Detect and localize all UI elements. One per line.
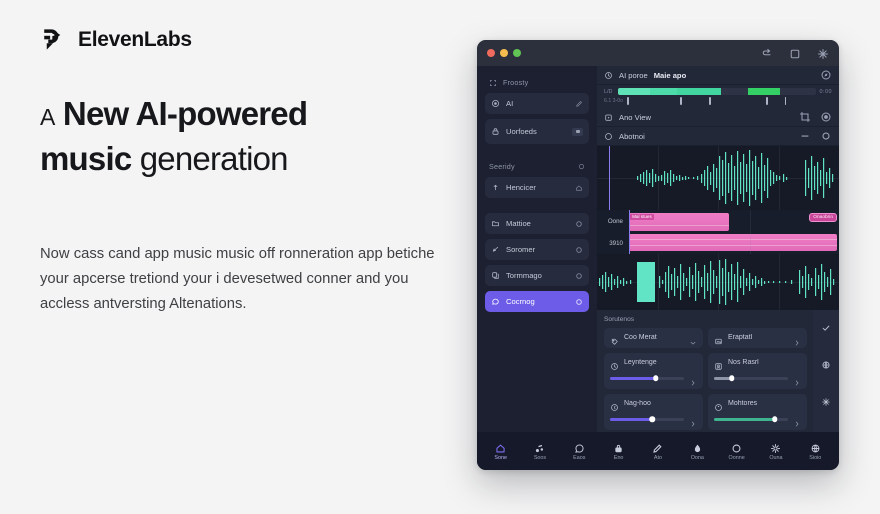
sidebar-section-label: Seeridy xyxy=(489,162,515,171)
minus-icon[interactable] xyxy=(799,130,811,142)
lock-icon xyxy=(491,127,500,136)
sidebar-item-hencicer[interactable]: Hencicer xyxy=(485,177,589,198)
progress-left-label: L/D xyxy=(604,89,614,95)
card-label: Coo Merat xyxy=(624,334,684,341)
headline-light-2: generation xyxy=(140,140,288,177)
timeline-tick xyxy=(680,97,682,105)
card-header: Mohtores xyxy=(714,399,801,408)
brand-lockup: ElevenLabs xyxy=(40,26,450,53)
card-slider-row xyxy=(714,374,801,382)
chevron-right-icon[interactable] xyxy=(689,374,697,382)
playhead xyxy=(609,146,610,210)
timeline-tick xyxy=(785,97,787,105)
sidebar-item-ai[interactable]: AI xyxy=(485,93,589,114)
close-button[interactable] xyxy=(487,49,495,57)
card-slider-row xyxy=(610,374,697,382)
control-card-leyntenge[interactable]: Leyntenge xyxy=(604,353,703,389)
record-icon[interactable] xyxy=(820,111,832,123)
waveform-bottom-svg xyxy=(597,254,839,310)
square-icon[interactable] xyxy=(789,47,801,59)
control-card-mohtores[interactable]: Mohtores xyxy=(708,394,807,430)
marketing-column: ElevenLabs A New AI-powered music genera… xyxy=(40,26,450,317)
sidebar-item-uorfoeds[interactable]: Uorfoeds xyxy=(485,119,589,144)
copy-icon xyxy=(491,271,500,280)
chat-icon xyxy=(491,297,500,306)
sidebar-item-label: Tormmago xyxy=(506,271,569,280)
sidebar-item-label: AI xyxy=(506,99,569,108)
tab-eno[interactable]: Eno xyxy=(601,441,637,461)
card-slider-row xyxy=(714,415,801,423)
sun-icon xyxy=(714,399,723,408)
globe-icon[interactable] xyxy=(821,357,831,367)
control-card-coo-merat[interactable]: Coo Merat xyxy=(604,328,703,348)
app-window: Froosty AI xyxy=(477,40,839,470)
timeline-time-label: 6.1 3-0o xyxy=(604,98,623,104)
slider-track[interactable] xyxy=(610,418,684,421)
card-header: Nag-hoo xyxy=(610,399,697,408)
maximize-button[interactable] xyxy=(513,49,521,57)
timeline-tick xyxy=(627,97,629,105)
app-body: Froosty AI xyxy=(477,66,839,432)
headline-bold-2: music xyxy=(40,140,131,177)
card-header: Coo Merat xyxy=(610,333,697,342)
control-card-eraptatl[interactable]: Eraptatl xyxy=(708,328,807,348)
progress-segment xyxy=(721,88,749,95)
control-card-nag-hoo[interactable]: Nag-hoo xyxy=(604,394,703,430)
sidebar-item-label: Soromer xyxy=(506,245,569,254)
sidebar-section-seeridy: Seeridy xyxy=(485,159,589,177)
playhead xyxy=(629,210,630,254)
circle-icon xyxy=(575,220,583,228)
globe-icon xyxy=(810,441,821,452)
sidebar-item-tormmago[interactable]: Tormmago xyxy=(485,265,589,286)
compass-icon[interactable] xyxy=(820,69,832,81)
main-panel: AI poroe Maie apo L/D xyxy=(597,66,839,432)
card-header: Nos Rasrl xyxy=(714,358,801,367)
progress-segment xyxy=(650,88,678,95)
body-copy: Now cass cand app music music off ronner… xyxy=(40,242,440,317)
progress-right-label: 0:00 xyxy=(820,89,833,95)
drop-icon xyxy=(692,441,703,452)
slider-knob xyxy=(729,375,735,381)
tab-ouna[interactable]: Ouna xyxy=(758,441,794,461)
main-title-lead: AI poroe xyxy=(619,71,648,80)
card-icon[interactable] xyxy=(572,128,583,136)
card-header: Eraptatl xyxy=(714,333,801,342)
card-label: Nos Rasrl xyxy=(728,359,801,366)
header-actions-2 xyxy=(799,111,832,123)
circle-icon xyxy=(731,441,742,452)
elevenlabs-logo-icon xyxy=(40,26,67,53)
main-header-row-3: Abotnoi xyxy=(597,127,839,146)
clip-gutter: Oone 3910 xyxy=(597,210,627,254)
controls-grid: Coo Merat xyxy=(604,328,807,430)
slider-track[interactable] xyxy=(714,418,788,421)
tab-label: Ato xyxy=(654,455,662,461)
home-icon xyxy=(495,441,506,452)
control-card-nos-rasrl[interactable]: Nos Rasrl xyxy=(708,353,807,389)
clip-gutter-label: Oone xyxy=(608,218,623,225)
sidebar-item-label: Mattioe xyxy=(506,219,569,228)
brand-name: ElevenLabs xyxy=(78,28,192,52)
sidebar-spacer xyxy=(485,149,589,159)
tab-label: Oona xyxy=(691,455,704,461)
tag-icon xyxy=(610,333,619,342)
progress-segment xyxy=(677,88,720,95)
slider-track[interactable] xyxy=(610,377,684,380)
controls-panel: Sorutenos Coo Merat xyxy=(597,310,839,432)
slider-knob xyxy=(649,416,655,422)
clock-icon xyxy=(604,71,613,80)
grid-line xyxy=(750,210,751,254)
card-label: Mohtores xyxy=(728,400,801,407)
tab-eaos[interactable]: Eaos xyxy=(561,441,597,461)
sidebar-item-label: Cocrnog xyxy=(506,297,569,306)
sidebar-spacer-2 xyxy=(485,203,589,213)
sidebar-section-froosty: Froosty xyxy=(485,75,589,93)
sparkle-icon[interactable] xyxy=(817,47,829,59)
circle-icon xyxy=(575,272,583,280)
main-title-bold: Maie apo xyxy=(654,71,687,80)
gear-icon xyxy=(770,441,781,452)
clip-badge: Onaobrin xyxy=(809,213,837,222)
tab-oonne[interactable]: Oonne xyxy=(719,441,755,461)
sparkle-icon[interactable] xyxy=(821,394,831,404)
controls-main: Sorutenos Coo Merat xyxy=(597,310,813,432)
tab-oona[interactable]: Oona xyxy=(679,441,715,461)
sidebar: Froosty AI xyxy=(477,66,597,432)
titlebar-actions xyxy=(761,47,829,59)
progress-line: L/D 0:00 xyxy=(604,88,832,95)
main-header-row-2: Ano View xyxy=(597,108,839,127)
tab-label: Soos xyxy=(534,455,546,461)
timeline-tick xyxy=(766,97,768,105)
check-icon[interactable] xyxy=(821,320,831,330)
controls-section-label: Sorutenos xyxy=(604,316,807,323)
timeline-tick-area[interactable] xyxy=(627,97,832,105)
tab-sioio[interactable]: Sioio xyxy=(797,441,833,461)
circle-icon xyxy=(575,298,583,306)
progress-segment xyxy=(618,88,650,95)
slider-knob xyxy=(653,375,659,381)
mic-icon xyxy=(652,441,663,452)
slider-track[interactable] xyxy=(714,377,788,380)
clip-gutter-label: 3910 xyxy=(609,240,623,247)
tab-label: Sone xyxy=(494,455,507,461)
circle-icon xyxy=(578,163,585,170)
sidebar-item-soromer[interactable]: Soromer xyxy=(485,239,589,260)
crop-icon[interactable] xyxy=(799,111,811,123)
chevron-right-icon[interactable] xyxy=(793,374,801,382)
page-title: A New AI-powered music generation xyxy=(40,93,450,180)
tab-ato[interactable]: Ato xyxy=(640,441,676,461)
card-label: Leyntenge xyxy=(624,359,697,366)
waveform-top[interactable] xyxy=(597,146,839,210)
bottom-tab-bar: Sone Soos Eaos Eno xyxy=(477,432,839,470)
tab-label: Ouna xyxy=(769,455,782,461)
reset-arrow-icon[interactable] xyxy=(761,47,773,59)
progress-strip: L/D 0:00 6.1 3-0o xyxy=(597,85,839,108)
headline-lead: A xyxy=(40,104,55,130)
circle-icon xyxy=(575,246,583,254)
progress-track[interactable] xyxy=(618,88,816,95)
sidebar-section-label: Froosty xyxy=(503,78,528,87)
main-header-row-1: AI poroe Maie apo xyxy=(597,66,839,85)
person-icon xyxy=(714,358,723,367)
tab-label: Eno xyxy=(614,455,624,461)
progress-segment xyxy=(748,88,780,95)
window-titlebar xyxy=(477,40,839,66)
sidebar-item-mattioe[interactable]: Mattioe xyxy=(485,213,589,234)
circle-small-icon[interactable] xyxy=(820,130,832,142)
card-header: Leyntenge xyxy=(610,358,697,367)
clock-icon xyxy=(610,358,619,367)
timeline-tick xyxy=(709,97,711,105)
slider-knob xyxy=(772,416,778,422)
frame-icon xyxy=(489,79,497,87)
tab-label: Oonne xyxy=(729,455,745,461)
card-label: Nag-hoo xyxy=(624,400,697,407)
clip-block-top[interactable]: Mal stues xyxy=(629,213,729,231)
sidebar-item-label: Hencicer xyxy=(506,183,569,192)
chevron-right-icon[interactable] xyxy=(689,415,697,423)
sidebar-item-cocrnog[interactable]: Cocrnog xyxy=(485,291,589,312)
timeline-ticks: 6.1 3-0o xyxy=(604,97,832,108)
image-icon xyxy=(714,333,723,342)
waveform-top-svg xyxy=(597,146,839,210)
main-title-row3: Abotnoi xyxy=(619,132,645,141)
clip-tag: Mal stues xyxy=(630,214,654,220)
moon-icon xyxy=(610,399,619,408)
headline-bold-1: New AI-powered xyxy=(63,95,307,132)
share-icon xyxy=(491,245,500,254)
chevron-right-icon[interactable] xyxy=(793,415,801,423)
tab-label: Eaos xyxy=(573,455,585,461)
music-icon xyxy=(534,441,545,452)
target-icon xyxy=(491,99,500,108)
sidebar-item-label: Uorfoeds xyxy=(506,127,566,136)
main-title-row2: Ano View xyxy=(619,113,651,122)
clip-block-bottom[interactable] xyxy=(629,234,837,251)
progress-segment xyxy=(780,88,816,95)
clip-area[interactable]: Mal stues Onaobrin xyxy=(627,210,839,254)
right-icon-rail xyxy=(813,310,839,432)
clip-lane: Oone 3910 Mal stues Onaobrin xyxy=(597,210,839,254)
chevron-right-icon[interactable] xyxy=(793,334,801,342)
header-actions-1 xyxy=(820,69,832,81)
card-slider-row xyxy=(610,415,697,423)
tab-soos[interactable]: Soos xyxy=(522,441,558,461)
play-box-icon xyxy=(604,113,613,122)
upload-icon xyxy=(491,183,500,192)
page-root: ElevenLabs A New AI-powered music genera… xyxy=(0,0,880,514)
tab-label: Sioio xyxy=(809,455,821,461)
minimize-button[interactable] xyxy=(500,49,508,57)
waveform-bottom[interactable] xyxy=(597,254,839,310)
folder-icon xyxy=(491,219,500,228)
header-actions-3 xyxy=(799,130,832,142)
circle-icon xyxy=(604,132,613,141)
card-label: Eraptatl xyxy=(728,334,788,341)
lock-icon xyxy=(613,441,624,452)
chevron-down-icon[interactable] xyxy=(689,334,697,342)
window-traffic-lights xyxy=(487,49,521,57)
home-icon xyxy=(575,184,583,192)
chat-icon xyxy=(574,441,585,452)
tab-sone[interactable]: Sone xyxy=(483,441,519,461)
pencil-icon[interactable] xyxy=(575,100,583,108)
